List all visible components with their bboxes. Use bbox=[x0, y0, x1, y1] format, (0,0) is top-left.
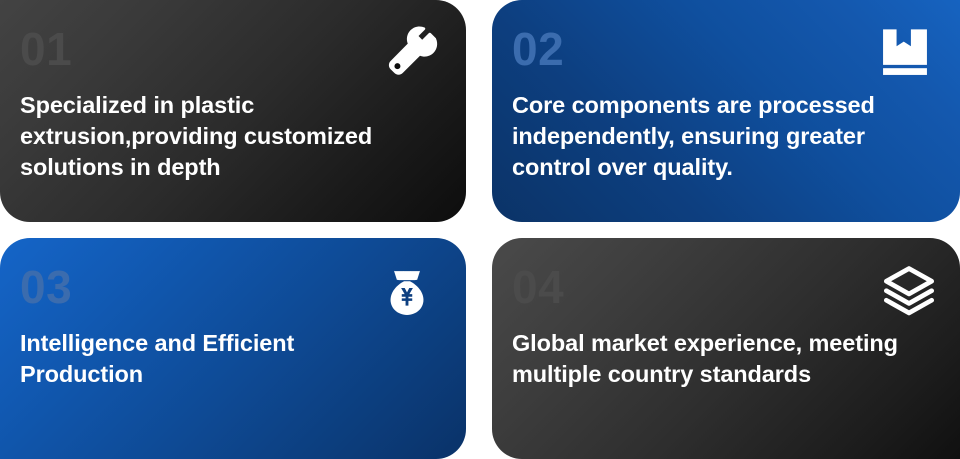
card-number-02: 02 bbox=[512, 26, 936, 72]
layers-stack-icon bbox=[880, 264, 938, 322]
feature-card-02[interactable]: 02 Core components are processed indepen… bbox=[492, 0, 960, 222]
card-title-04: Global market experience, meeting multip… bbox=[512, 328, 902, 390]
money-bag-yen-icon bbox=[378, 264, 436, 322]
book-bookmark-icon bbox=[876, 24, 934, 82]
card-number-01: 01 bbox=[20, 26, 442, 72]
card-title-01: Specialized in plastic extrusion,providi… bbox=[20, 90, 438, 183]
wrench-icon bbox=[382, 24, 440, 82]
card-number-04: 04 bbox=[512, 264, 936, 310]
feature-card-04[interactable]: 04 Global market experience, meeting mul… bbox=[492, 238, 960, 459]
feature-card-03[interactable]: 03 Intelligence and Efficient Production bbox=[0, 238, 466, 459]
card-title-03: Intelligence and Efficient Production bbox=[20, 328, 420, 390]
feature-card-01[interactable]: 01 Specialized in plastic extrusion,prov… bbox=[0, 0, 466, 222]
feature-cards-grid: 01 Specialized in plastic extrusion,prov… bbox=[0, 0, 960, 459]
card-title-02: Core components are processed independen… bbox=[512, 90, 936, 183]
